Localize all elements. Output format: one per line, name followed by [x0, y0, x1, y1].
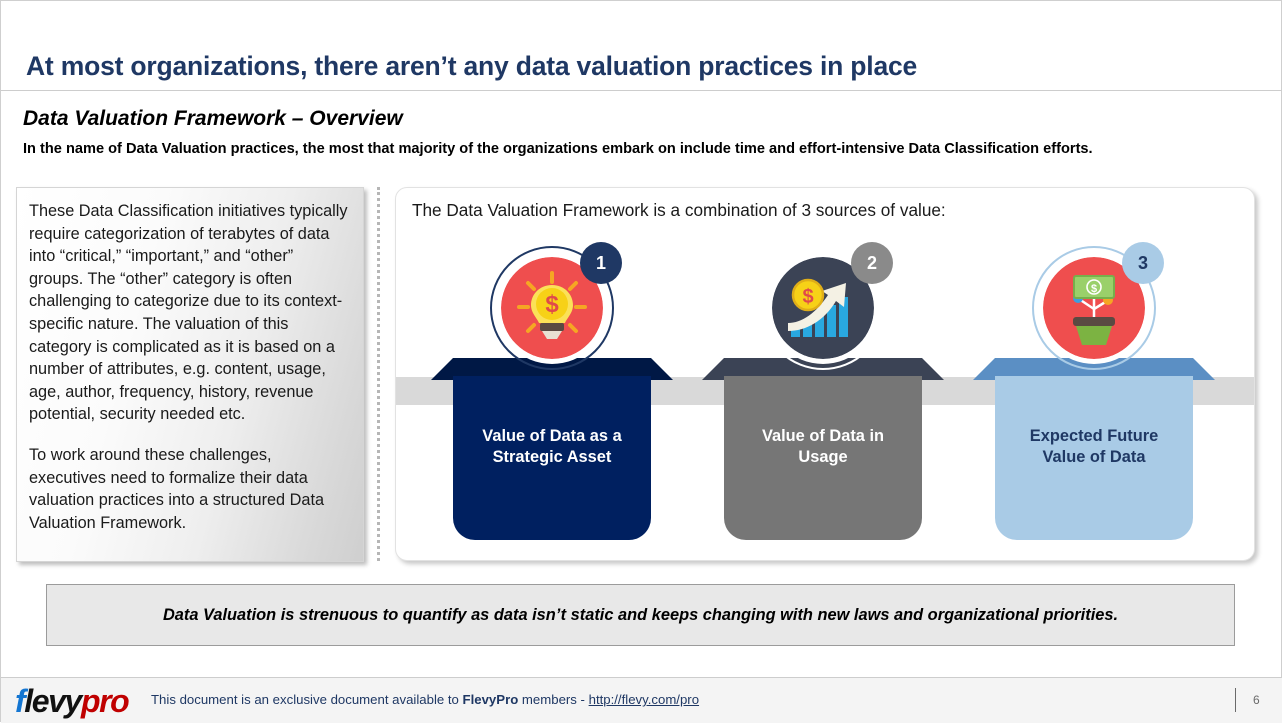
pillar-3-body: Expected Future Value of Data [995, 376, 1193, 540]
logo-levy: levy [24, 683, 81, 719]
svg-text:$: $ [545, 291, 559, 318]
logo-pro: pro [81, 683, 128, 719]
icon-badge-group-2[interactable]: $ 2 [761, 246, 885, 370]
pillar-3-label: Expected Future Value of Data [995, 426, 1193, 468]
icon-badge-group-3[interactable]: $ 3 [1032, 246, 1156, 370]
footer-note-prefix: This document is an exclusive document a… [151, 692, 463, 707]
pillar-2-label: Value of Data in Usage [724, 426, 922, 468]
flevypro-logo: flevypro [15, 685, 128, 717]
pillar-1[interactable]: Value of Data as a Strategic Asset [453, 358, 651, 540]
svg-text:$: $ [802, 286, 813, 308]
footer-note-brand: FlevyPro [463, 692, 519, 707]
pillar-2-body: Value of Data in Usage [724, 376, 922, 540]
left-paragraph-1: These Data Classification initiatives ty… [29, 200, 349, 426]
slide-canvas: At most organizations, there aren’t any … [0, 0, 1282, 722]
callout-box: Data Valuation is strenuous to quantify … [46, 584, 1235, 646]
icon-badge-group-1[interactable]: $ 1 [490, 246, 614, 370]
framework-headline: The Data Valuation Framework is a combin… [412, 200, 946, 221]
logo-f: f [15, 683, 24, 719]
page-number: 6 [1253, 693, 1260, 707]
vertical-dotted-divider [377, 187, 380, 561]
pillar-2[interactable]: Value of Data in Usage [724, 358, 922, 540]
page-title: At most organizations, there aren’t any … [26, 51, 917, 82]
pillar-1-label: Value of Data as a Strategic Asset [453, 426, 651, 468]
badge-number-3: 3 [1122, 242, 1164, 284]
pillar-1-body: Value of Data as a Strategic Asset [453, 376, 651, 540]
page-divider [1235, 688, 1236, 712]
section-heading: Data Valuation Framework – Overview [23, 107, 403, 131]
framework-panel: The Data Valuation Framework is a combin… [395, 187, 1255, 561]
left-text-panel: These Data Classification initiatives ty… [16, 187, 364, 562]
callout-text: Data Valuation is strenuous to quantify … [163, 606, 1118, 625]
footer-link[interactable]: http://flevy.com/pro [589, 692, 699, 707]
footer-note: This document is an exclusive document a… [151, 692, 699, 707]
badge-number-2: 2 [851, 242, 893, 284]
lead-paragraph: In the name of Data Valuation practices,… [23, 139, 1245, 159]
footer-note-middle: members - [518, 692, 588, 707]
pillar-3[interactable]: Expected Future Value of Data [995, 358, 1193, 540]
badge-number-1: 1 [580, 242, 622, 284]
svg-text:$: $ [1091, 283, 1097, 295]
left-paragraph-2: To work around these challenges, executi… [29, 444, 349, 534]
